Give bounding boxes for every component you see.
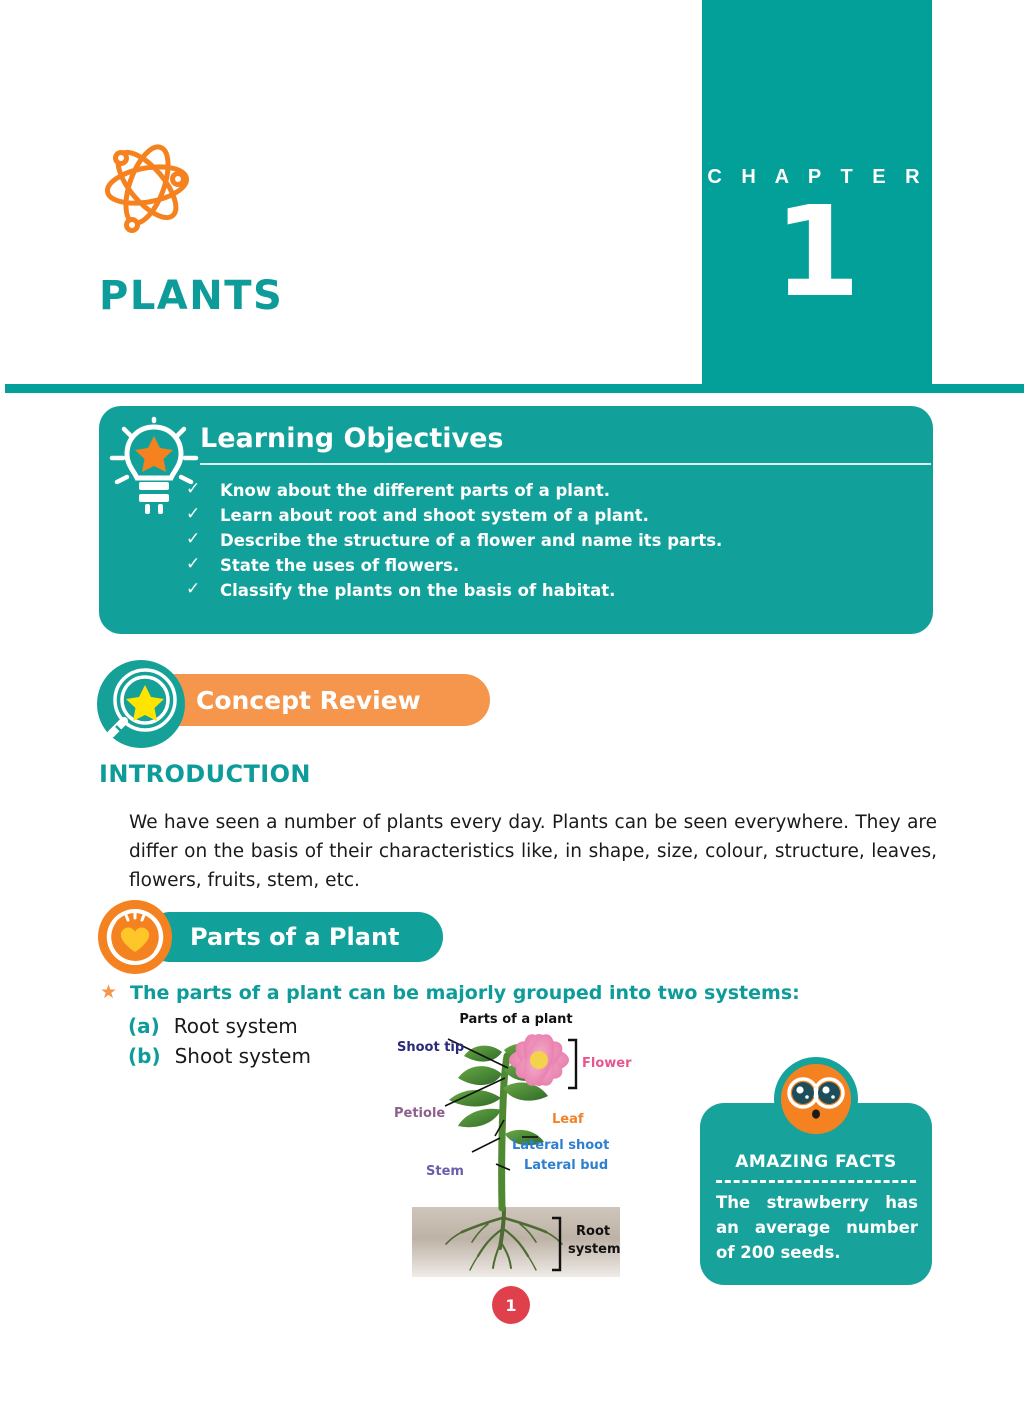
list-item: ✓State the uses of flowers. (186, 553, 926, 578)
diagram-label-root: Root (576, 1224, 610, 1239)
diagram-label-root-system: system (568, 1242, 621, 1257)
objective-text: Classify the plants on the basis of habi… (220, 581, 615, 600)
item-marker: (b) (128, 1044, 161, 1068)
diagram-label-flower: Flower (582, 1056, 632, 1071)
amazing-facts-text: The strawberry has an average number of … (716, 1190, 918, 1265)
chapter-number: 1 (702, 190, 932, 315)
textbook-page: C H A P T E R 1 PLANTS (0, 0, 1024, 1408)
list-item: (b)Shoot system (128, 1044, 311, 1068)
objective-text: Know about the different parts of a plan… (220, 481, 610, 500)
learning-objectives-list: ✓Know about the different parts of a pla… (186, 478, 926, 603)
objective-text: Learn about root and shoot system of a p… (220, 506, 649, 525)
plant-diagram: Parts of a plant (392, 1012, 640, 1280)
learning-objectives-heading: Learning Objectives (200, 423, 503, 454)
check-icon: ✓ (186, 502, 200, 527)
list-item: ✓Know about the different parts of a pla… (186, 478, 926, 503)
page-number-badge: 1 (492, 1286, 530, 1324)
check-icon: ✓ (186, 552, 200, 577)
introduction-heading: INTRODUCTION (99, 760, 311, 788)
learning-objectives-divider (200, 463, 931, 465)
diagram-label-lateral-shoot: Lateral shoot (512, 1138, 609, 1153)
amazing-facts-title: AMAZING FACTS (700, 1152, 932, 1172)
item-text: Shoot system (175, 1044, 311, 1068)
item-marker: (a) (128, 1014, 160, 1038)
check-icon: ✓ (186, 527, 200, 552)
page-title: PLANTS (99, 273, 283, 319)
star-bullet-icon: ★ (100, 981, 117, 1004)
diagram-label-stem: Stem (426, 1164, 464, 1179)
diagram-label-petiole: Petiole (394, 1106, 445, 1121)
check-icon: ✓ (186, 577, 200, 602)
diagram-label-leaf: Leaf (552, 1112, 584, 1127)
magnifier-star-icon (97, 660, 185, 748)
parts-of-plant-lead-text: The parts of a plant can be majorly grou… (130, 982, 800, 1004)
concept-review-pill: Concept Review (150, 674, 490, 726)
amazing-facts-divider (716, 1180, 916, 1183)
objective-text: Describe the structure of a flower and n… (220, 531, 722, 550)
parts-of-plant-label: Parts of a Plant (145, 912, 443, 962)
item-text: Root system (174, 1014, 298, 1038)
owl-face-glasses-icon (772, 1055, 860, 1143)
diagram-label-lateral-bud: Lateral bud (524, 1158, 608, 1173)
list-item: ✓Learn about root and shoot system of a … (186, 503, 926, 528)
list-item: ✓Classify the plants on the basis of hab… (186, 578, 926, 603)
list-item: (a)Root system (128, 1014, 298, 1038)
chapter-banner: C H A P T E R 1 (702, 0, 932, 386)
atom-icon (99, 133, 195, 238)
list-item: ✓Describe the structure of a flower and … (186, 528, 926, 553)
objective-text: State the uses of flowers. (220, 556, 459, 575)
heart-refresh-icon (98, 900, 172, 974)
concept-review-label: Concept Review (150, 674, 490, 726)
check-icon: ✓ (186, 477, 200, 502)
diagram-label-shoot-tip: Shoot tip (397, 1040, 464, 1055)
parts-of-plant-pill: Parts of a Plant (145, 912, 443, 962)
header-divider-rule (5, 384, 1024, 393)
introduction-paragraph: We have seen a number of plants every da… (129, 808, 937, 895)
